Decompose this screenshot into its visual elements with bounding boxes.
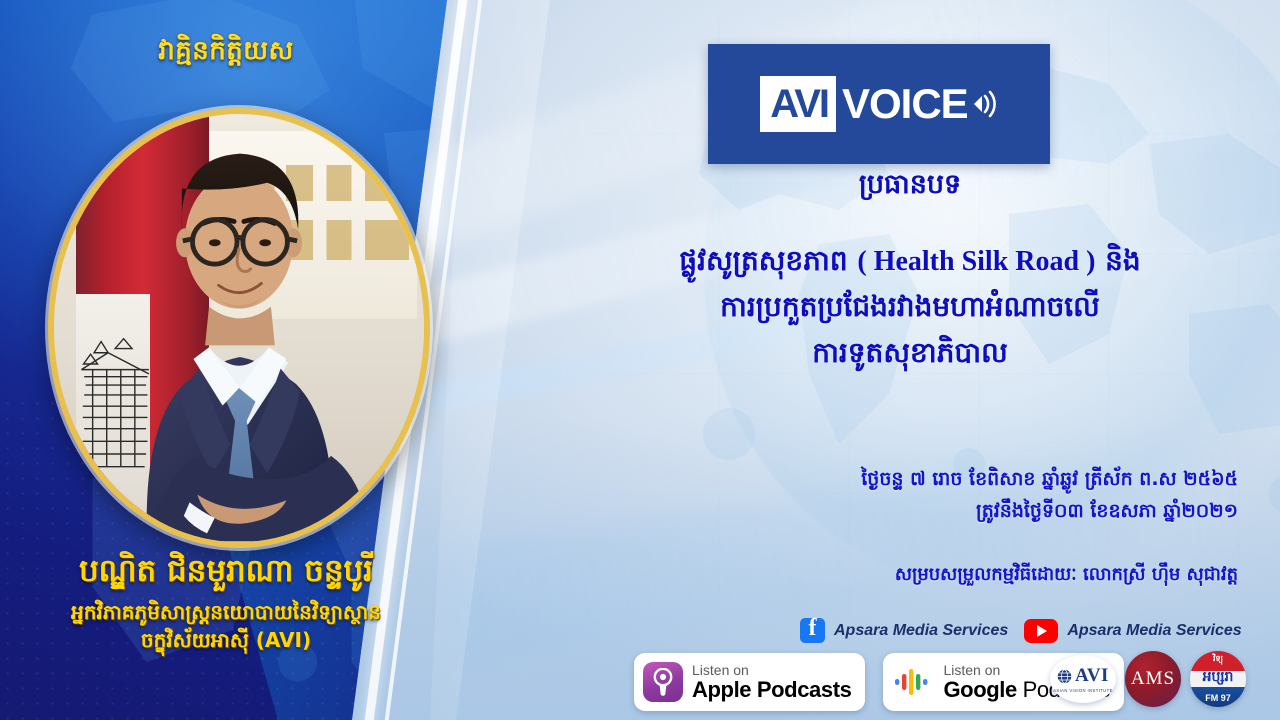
speaker-photo	[54, 114, 424, 542]
speaker-role-line-2: ចក្ខុវិស័យអាស៊ី (AVI)	[0, 626, 452, 654]
avi-logo-subtitle: ASIAN VISION INSTITUTE	[1053, 688, 1113, 693]
honoured-speaker-label: វាគ្មិនកិត្តិយស	[0, 34, 452, 69]
speaker-portrait-frame	[48, 108, 430, 548]
apsara-fm-logo: វិទ្យុ អប្សរា FM 97	[1190, 651, 1246, 707]
apple-badge-suffix: Podcasts	[751, 677, 851, 702]
speaker-role: អ្នកវិភាគភូមិសាស្ត្រនយោបាយនៃវិទ្យាស្ថាន …	[0, 598, 452, 655]
logo-voice-block: VOICE	[842, 76, 998, 132]
logo-voice-text: VOICE	[842, 83, 968, 125]
google-podcasts-icon	[892, 665, 934, 699]
speaker-role-line-1: អ្នកវិភាគភូមិសាស្ត្រនយោបាយនៃវិទ្យាស្ថាន	[0, 598, 452, 626]
logo-avi-text: AVI	[770, 84, 828, 124]
organisation-logos-row: AVI ASIAN VISION INSTITUTE AMS វិទ្យុ អប…	[1050, 651, 1246, 707]
topic-title-line-3: ការទូតសុខាភិបាល	[552, 330, 1268, 375]
logo-inner: AVI VOICE	[760, 76, 997, 132]
topic-title-line-2: ការប្រកួតប្រជែងរវាងមហាអំណាចលើ	[552, 284, 1268, 329]
program-host-credit: សម្របសម្រួលកម្មវិធីដោយៈ លោកស្រី ហ៊ឹម សុជ…	[560, 562, 1260, 589]
topic-title: ផ្លូវសូត្រសុខភាព ( Health Silk Road ) និ…	[552, 238, 1268, 375]
apple-badge-brand: Apple	[692, 677, 751, 702]
google-badge-brand: Google	[943, 677, 1016, 702]
topic-title-line-1: ផ្លូវសូត្រសុខភាព ( Health Silk Road ) និ…	[552, 238, 1268, 284]
youtube-label: Apsara Media Services	[1067, 622, 1241, 640]
sound-wave-icon	[972, 87, 998, 121]
apsara-fm-frequency: FM 97	[1190, 693, 1246, 703]
apsara-fm-top-text: វិទ្យុ	[1190, 653, 1246, 665]
apsara-fm-name: អប្សរា	[1190, 670, 1246, 684]
avi-logo-name: AVI	[1075, 665, 1109, 687]
logo-avi-block: AVI	[760, 76, 836, 132]
facebook-link[interactable]: Apsara Media Services	[800, 618, 1008, 643]
facebook-icon[interactable]	[800, 618, 825, 643]
globe-icon	[1057, 669, 1072, 684]
topic-line1-post: និង	[1105, 244, 1141, 277]
youtube-icon[interactable]	[1024, 619, 1058, 643]
avi-voice-logo: AVI VOICE	[708, 44, 1050, 164]
ams-logo-name: AMS	[1131, 668, 1175, 690]
apple-badge-big: Apple Podcasts	[692, 678, 851, 702]
speaker-name: បណ្ឌិត ជិនមួរាណា ចន្ទបូរី	[0, 553, 452, 591]
facebook-label: Apsara Media Services	[834, 622, 1008, 640]
apple-podcasts-text: Listen on Apple Podcasts	[692, 663, 851, 702]
apple-podcasts-icon	[643, 662, 683, 702]
broadcast-date: ថ្ងៃចន្ទ ៧ រោច ខែពិសាខ ឆ្នាំឆ្លូវ ត្រីស័…	[560, 464, 1260, 528]
date-line-gregorian: ត្រូវនឹងថ្ងៃទី០៣ ខែឧសភា ឆ្នាំ២០២១	[560, 496, 1238, 528]
avi-institute-logo: AVI ASIAN VISION INSTITUTE	[1050, 655, 1116, 703]
topic-label: ប្រធានបទ	[560, 168, 1260, 207]
topic-line1-latin: ( Health Silk Road )	[857, 246, 1095, 277]
topic-line1-pre: ផ្លូវសូត្រសុខភាព	[679, 244, 847, 277]
apple-podcasts-badge[interactable]: Listen on Apple Podcasts	[634, 653, 865, 711]
ams-logo: AMS	[1125, 651, 1181, 707]
avi-logo-row: AVI	[1057, 665, 1109, 687]
social-links-row: Apsara Media Services Apsara Media Servi…	[800, 618, 1242, 643]
broadcast-poster: វាគ្មិនកិត្តិយស	[0, 0, 1280, 720]
date-line-khmer-calendar: ថ្ងៃចន្ទ ៧ រោច ខែពិសាខ ឆ្នាំឆ្លូវ ត្រីស័…	[560, 464, 1238, 496]
youtube-link[interactable]: Apsara Media Services	[1024, 619, 1241, 643]
apple-badge-small: Listen on	[692, 663, 851, 678]
speaker-portrait	[48, 108, 430, 548]
